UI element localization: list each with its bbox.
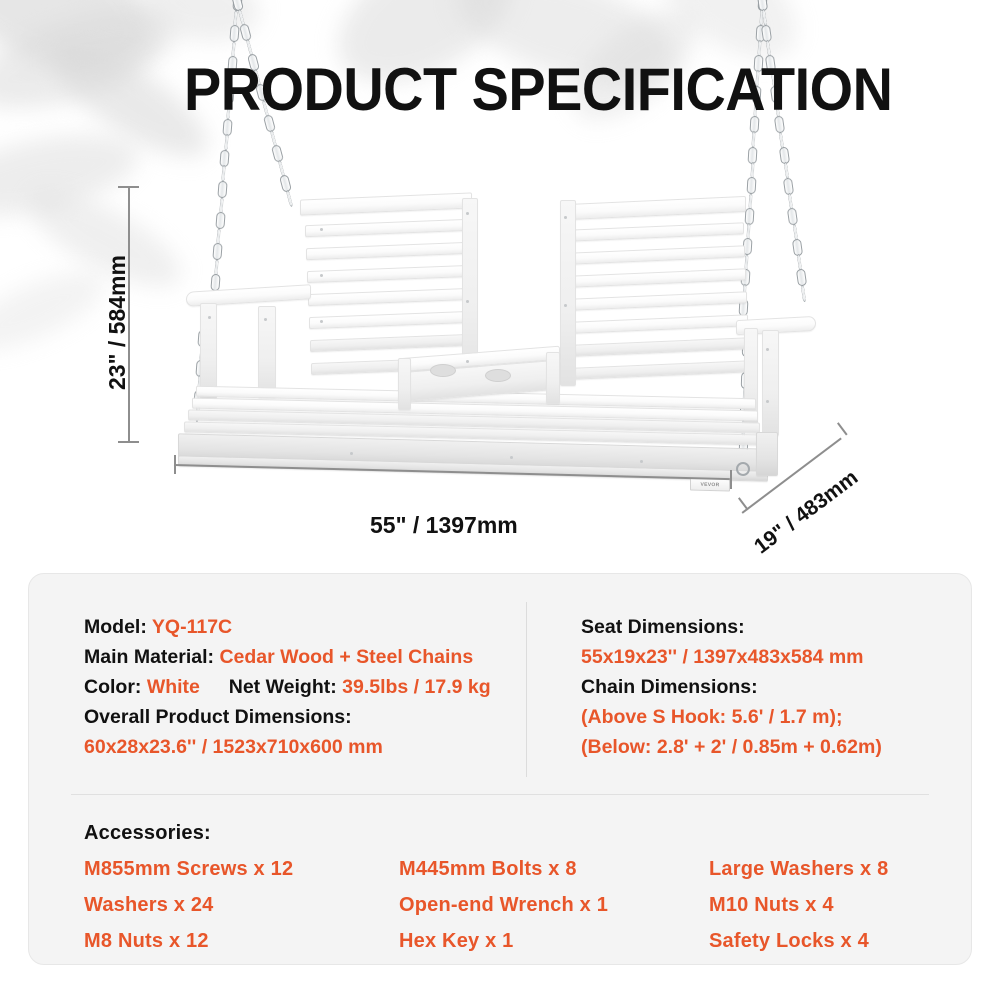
backrest-center-post-right: [560, 200, 576, 386]
dimension-cap-height-bottom: [118, 441, 139, 443]
accessory-item: M10 Nuts x 4: [709, 890, 971, 920]
backrest-slat: [569, 245, 745, 264]
dimension-cap-width-left: [174, 455, 176, 474]
chain-link-left-rear: [278, 174, 291, 193]
backrest-slat: [570, 268, 746, 287]
accessory-item: Hex Key x 1: [399, 926, 709, 956]
leaf-shadow-decor: [0, 0, 187, 129]
screw: [208, 316, 211, 319]
leaf-shadow-decor: [0, 257, 114, 366]
spec-value-chain-below: (Below: 2.8' + 2' / 0.85m + 0.62m): [581, 732, 971, 762]
accessory-item: M445mm Bolts x 8: [399, 854, 709, 884]
accessory-item: M8 Nuts x 12: [84, 926, 399, 956]
spec-label-overall-dimensions: Overall Product Dimensions:: [84, 702, 526, 732]
screw: [466, 212, 469, 215]
spec-label-chain-dimensions: Chain Dimensions:: [581, 672, 971, 702]
backrest-slat: [571, 291, 747, 310]
accessory-item: Open-end Wrench x 1: [399, 890, 709, 920]
spec-row-model: Model: YQ-117C: [84, 612, 526, 642]
backrest-slat: [305, 219, 470, 237]
spec-value-model: YQ-117C: [152, 616, 232, 638]
accessories-title: Accessories:: [84, 822, 971, 845]
spec-value-material: Cedar Wood + Steel Chains: [219, 646, 473, 668]
backrest-slat: [568, 222, 744, 241]
cupholder-hole-right: [485, 369, 511, 382]
spec-row-color-weight: Color: White Net Weight: 39.5lbs / 17.9 …: [84, 672, 526, 702]
screw: [564, 216, 567, 219]
backrest-slat: [308, 288, 470, 306]
accessories-grid: M855mm Screws x 12M445mm Bolts x 8Large …: [84, 854, 971, 956]
screw: [510, 456, 513, 459]
screw: [320, 320, 323, 323]
backrest-slat: [574, 360, 750, 379]
chain-link-right-rear: [787, 208, 798, 226]
chain-link-left-front: [229, 25, 239, 43]
brand-plate: VEVOR: [690, 477, 730, 491]
spec-label-model: Model:: [84, 616, 147, 638]
chain-link-left-rear: [270, 144, 283, 163]
armrest-post-right-front: [762, 330, 779, 436]
chain-link-left-front: [215, 212, 225, 230]
screw: [320, 274, 323, 277]
dimension-cap-depth-low: [738, 497, 748, 510]
screw: [564, 304, 567, 307]
leaf-shadow-decor: [0, 120, 145, 230]
armrest-post-left-rear: [258, 306, 276, 398]
accessory-item: Large Washers x 8: [709, 854, 971, 884]
backrest-slat: [573, 337, 749, 356]
chain-link-left-rear: [238, 23, 251, 42]
dimension-label-width: 55" / 1397mm: [370, 512, 518, 539]
screw: [320, 228, 323, 231]
backrest-slat: [306, 242, 470, 260]
spec-value-overall-dimensions: 60x28x23.6'' / 1523x710x600 mm: [84, 732, 526, 762]
chain-link-right-rear: [801, 285, 806, 302]
chain-link-right-front: [746, 177, 756, 195]
s-hook-ring: [736, 462, 750, 476]
spec-row-material: Main Material: Cedar Wood + Steel Chains: [84, 642, 526, 672]
chain-link-left-front: [212, 243, 222, 261]
accessories-section: Accessories: M855mm Screws x 12M445mm Bo…: [29, 794, 971, 964]
screw: [466, 360, 469, 363]
screw: [466, 300, 469, 303]
accessory-item: M855mm Screws x 12: [84, 854, 399, 884]
backrest-slat: [572, 314, 748, 333]
chain-link-left-front: [217, 181, 227, 199]
spec-value-net-weight: 39.5lbs / 17.9 kg: [342, 676, 491, 698]
spec-value-seat-dimensions: 55x19x23'' / 1397x483x584 mm: [581, 642, 971, 672]
chain-link-left-rear: [285, 190, 292, 207]
specification-card: Model: YQ-117C Main Material: Cedar Wood…: [28, 573, 972, 965]
spec-column-left: Model: YQ-117C Main Material: Cedar Wood…: [29, 574, 526, 794]
product-photo-area: PRODUCT SPECIFICATION: [0, 0, 1000, 565]
cupholder-hole-left: [430, 364, 456, 377]
spec-label-material: Main Material:: [84, 646, 214, 668]
page-title: PRODUCT SPECIFICATION: [184, 58, 798, 121]
spec-label-seat-dimensions: Seat Dimensions:: [581, 612, 971, 642]
screw: [264, 318, 267, 321]
vertical-divider: [526, 602, 527, 777]
backrest-top-rail-right: [566, 196, 746, 220]
accessory-item: Washers x 24: [84, 890, 399, 920]
chain-link-right-front: [752, 131, 756, 148]
dimension-label-height: 23" / 584mm: [104, 255, 131, 390]
spec-column-right: Seat Dimensions: 55x19x23'' / 1397x483x5…: [526, 574, 971, 794]
chain-link-left-front: [224, 134, 228, 151]
backrest-slat: [309, 311, 470, 329]
backrest-slat: [310, 334, 470, 352]
spec-label-net-weight: Net Weight:: [229, 676, 337, 698]
screw: [766, 348, 769, 351]
backrest-slat: [307, 265, 470, 283]
chain-link-left-front: [220, 149, 230, 167]
cupholder-tray-right-edge: [546, 352, 560, 404]
brand-plate-label: VEVOR: [700, 481, 719, 487]
spec-top-section: Model: YQ-117C Main Material: Cedar Wood…: [29, 574, 971, 794]
screw: [766, 400, 769, 403]
screw: [350, 452, 353, 455]
accessory-item: Safety Locks x 4: [709, 926, 971, 956]
spec-value-chain-above: (Above S Hook: 5.6' / 1.7 m);: [581, 702, 971, 732]
dimension-cap-depth-high: [837, 422, 847, 435]
dimension-cap-width-right: [730, 470, 732, 489]
chain-link-left-front: [221, 165, 225, 182]
spec-value-color: White: [147, 676, 200, 698]
spec-label-color: Color:: [84, 676, 141, 698]
seat-side-cap-right: [756, 432, 778, 476]
backrest-top-rail-left: [300, 192, 472, 215]
screw: [640, 460, 643, 463]
dimension-cap-height-top: [118, 186, 139, 188]
chain-link-right-rear: [783, 162, 788, 179]
cupholder-tray-left-edge: [398, 358, 411, 410]
leaf-shadow-decor: [0, 0, 174, 102]
